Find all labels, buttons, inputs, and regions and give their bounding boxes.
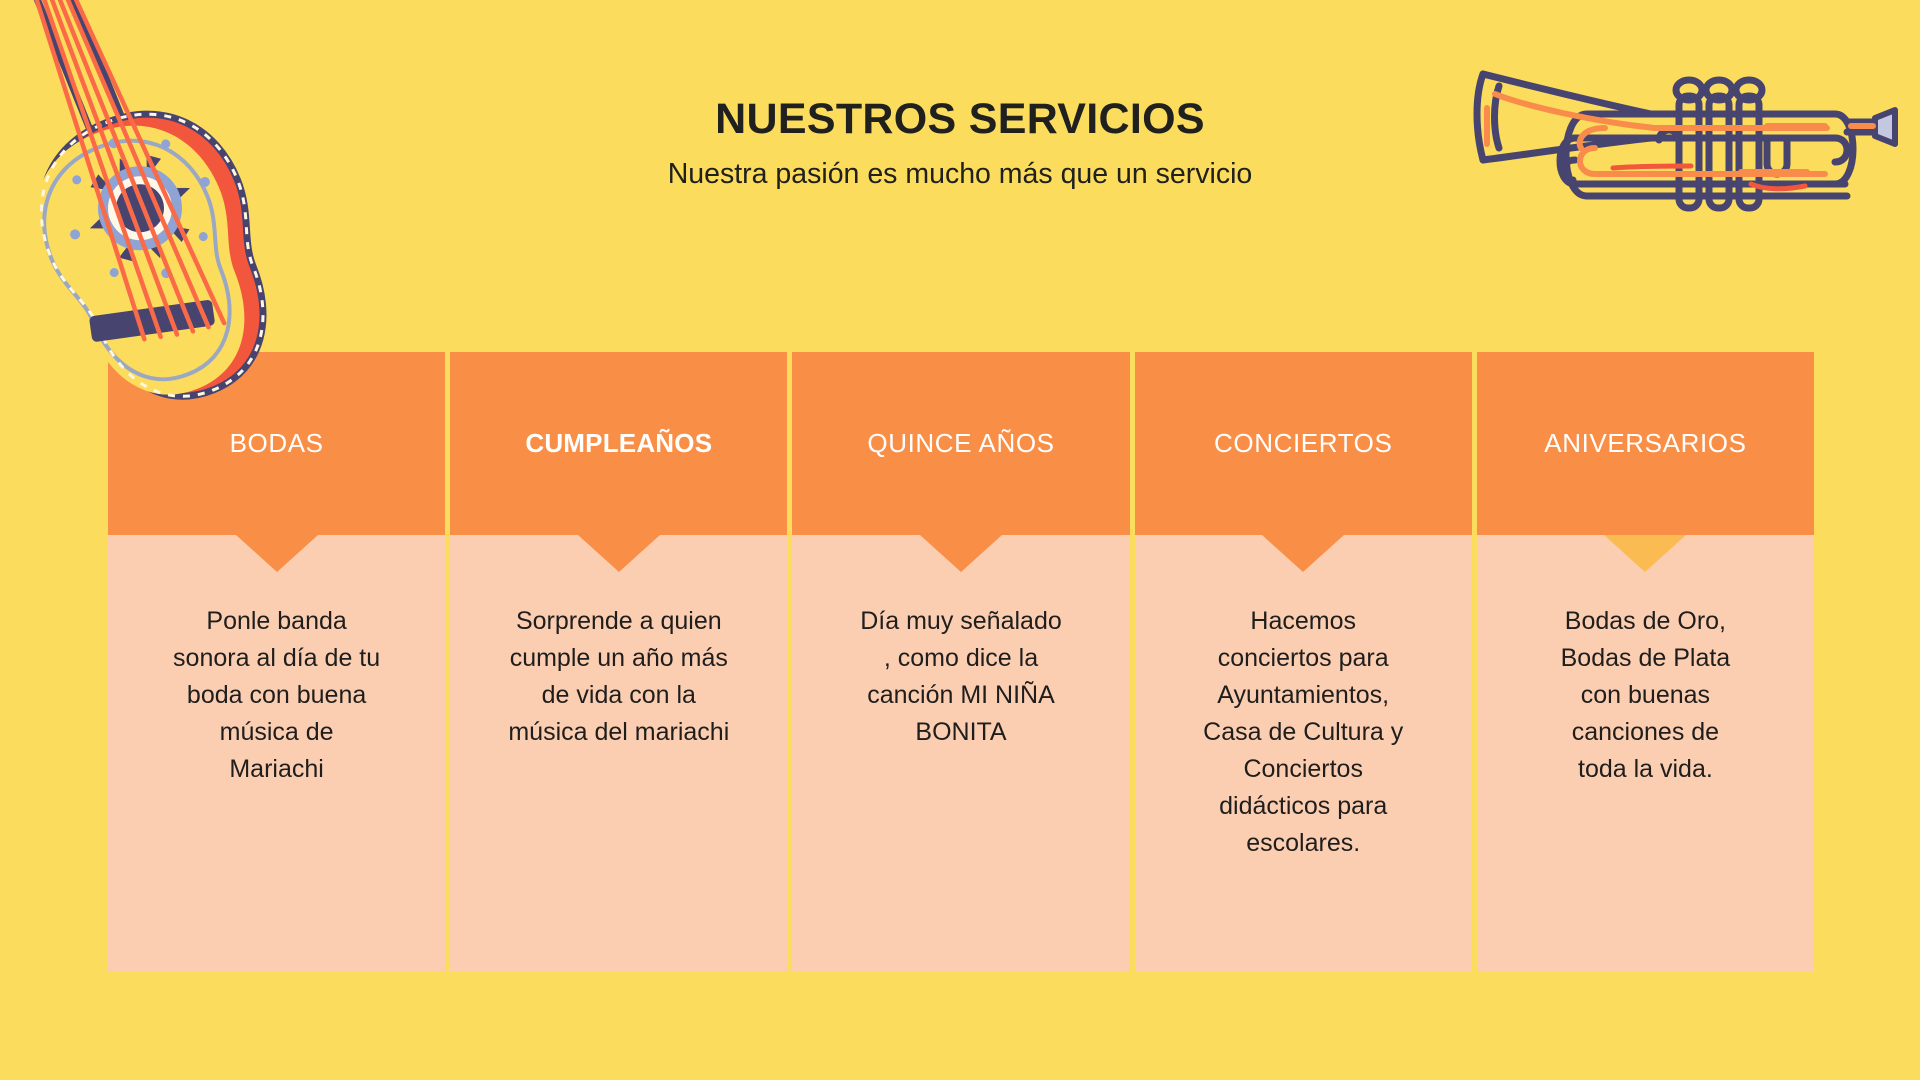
service-card-header-conciertos[interactable]: CONCIERTOS (1135, 352, 1472, 535)
service-card-header-bodas[interactable]: BODAS (108, 352, 445, 535)
service-card-header-aniversarios[interactable]: ANIVERSARIOS (1477, 352, 1814, 535)
service-description-conciertos: Hacemos conciertos para Ayuntamientos, C… (1161, 603, 1446, 862)
service-card-conciertos[interactable]: CONCIERTOS Hacemos conciertos para Ayunt… (1135, 352, 1472, 972)
card-notch-icon-cumpleanos (578, 535, 660, 572)
service-card-body-aniversarios: Bodas de Oro, Bodas de Plata con buenas … (1477, 535, 1814, 972)
service-title-quince-anos: QUINCE AÑOS (867, 429, 1054, 459)
service-description-cumpleanos: Sorprende a quien cumple un año más de v… (476, 603, 761, 751)
service-card-cumpleanos[interactable]: CUMPLEAÑOS Sorprende a quien cumple un a… (450, 352, 787, 972)
service-card-body-bodas: Ponle banda sonora al día de tu boda con… (108, 535, 445, 972)
service-card-body-conciertos: Hacemos conciertos para Ayuntamientos, C… (1135, 535, 1472, 972)
service-description-quince-anos: Día muy señalado , como dice la canción … (818, 603, 1103, 751)
service-title-bodas: BODAS (230, 429, 324, 459)
services-card-row: BODAS Ponle banda sonora al día de tu bo… (108, 352, 1814, 972)
service-card-quince-anos[interactable]: QUINCE AÑOS Día muy señalado , como dice… (792, 352, 1129, 972)
service-card-header-quince-anos[interactable]: QUINCE AÑOS (792, 352, 1129, 535)
service-card-body-quince-anos: Día muy señalado , como dice la canción … (792, 535, 1129, 972)
card-notch-icon-aniversarios (1604, 535, 1686, 572)
card-notch-icon-conciertos (1262, 535, 1344, 572)
header-block: NUESTROS SERVICIOS Nuestra pasión es muc… (0, 96, 1920, 191)
page-title: NUESTROS SERVICIOS (0, 96, 1920, 143)
services-poster: NUESTROS SERVICIOS Nuestra pasión es muc… (0, 0, 1920, 1080)
service-card-aniversarios[interactable]: ANIVERSARIOS Bodas de Oro, Bodas de Plat… (1477, 352, 1814, 972)
service-title-conciertos: CONCIERTOS (1214, 429, 1392, 459)
service-description-aniversarios: Bodas de Oro, Bodas de Plata con buenas … (1503, 603, 1788, 788)
card-notch-icon-quince-anos (920, 535, 1002, 572)
service-title-cumpleanos: CUMPLEAÑOS (525, 429, 712, 459)
service-description-bodas: Ponle banda sonora al día de tu boda con… (134, 603, 419, 788)
page-subtitle: Nuestra pasión es mucho más que un servi… (0, 157, 1920, 191)
service-card-header-cumpleanos[interactable]: CUMPLEAÑOS (450, 352, 787, 535)
service-card-bodas[interactable]: BODAS Ponle banda sonora al día de tu bo… (108, 352, 445, 972)
service-card-body-cumpleanos: Sorprende a quien cumple un año más de v… (450, 535, 787, 972)
service-title-aniversarios: ANIVERSARIOS (1544, 429, 1746, 459)
card-notch-icon-bodas (236, 535, 318, 572)
